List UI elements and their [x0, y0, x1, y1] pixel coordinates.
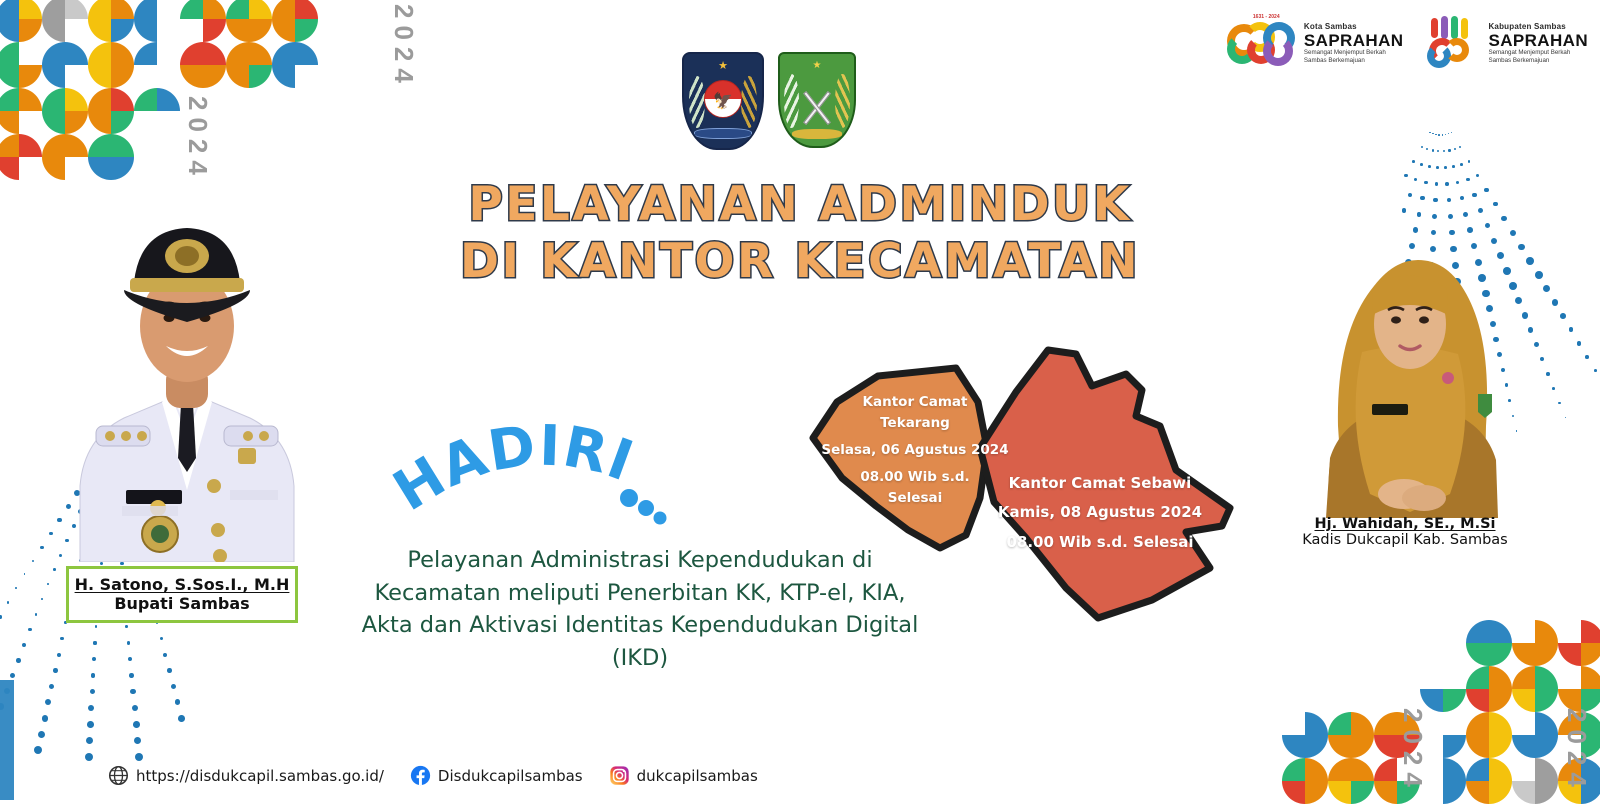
decor-tile — [1282, 758, 1328, 804]
tekarang-date: Selasa, 06 Agustus 2024 — [815, 440, 1015, 461]
hadiri-text: HADIRI — [383, 413, 642, 524]
decor-halftone-dot — [1565, 417, 1567, 419]
decor-tile — [1328, 666, 1374, 712]
emblem-cross-icon — [797, 88, 837, 128]
logo-saprahan-label: SAPRAHAN — [1488, 32, 1588, 50]
decor-tile-quarter — [1305, 758, 1328, 781]
decor-halftone-dot — [32, 560, 35, 563]
decor-tile-quarter — [1535, 689, 1558, 712]
anniversary-logos: 1631 - 2024 Kota Sambas SAPRAHAN Semanga… — [1225, 16, 1588, 72]
decor-tile-quarter — [1466, 781, 1489, 804]
kadis-name: Hj. Wahidah, SE., M.Si — [1290, 516, 1520, 532]
decor-halftone-dot — [1552, 299, 1558, 305]
emblem-star-icon: ★ — [718, 61, 728, 72]
decor-halftone-dot — [1546, 372, 1550, 376]
decor-tile — [1420, 620, 1466, 666]
decor-tile-quarter — [1466, 735, 1489, 758]
sebawi-office: Kantor Camat Sebawi — [970, 472, 1230, 495]
decor-halftone-dot — [1436, 166, 1439, 169]
decor-tile-quarter — [1535, 758, 1558, 781]
decor-tile-quarter — [65, 42, 88, 65]
decor-halftone-dot — [178, 715, 185, 722]
decor-tile — [1420, 666, 1466, 712]
decor-year-bottom-right-a: 2024 — [1561, 708, 1592, 794]
decor-tile-quarter — [203, 0, 226, 19]
decor-tile-quarter — [1466, 620, 1489, 643]
decor-halftone-dot — [92, 657, 96, 661]
decor-tile-quarter — [203, 65, 226, 88]
decor-halftone-dot — [1528, 327, 1534, 333]
poster-canvas: 2024 2024 2024 2024 ★ 🦅 ★ — [0, 0, 1600, 800]
decor-tile — [1466, 758, 1512, 804]
decor-halftone-dot — [16, 658, 21, 663]
decor-tile-quarter — [1374, 758, 1397, 781]
footer-instagram-label: dukcapilsambas — [637, 767, 758, 785]
decor-halftone-dot — [163, 653, 167, 657]
decor-tile-quarter — [1512, 781, 1535, 804]
decor-tile-quarter — [295, 42, 318, 65]
decor-tile-quarter — [42, 42, 65, 65]
decor-halftone-dot — [1560, 313, 1566, 319]
decor-tile-quarter — [1535, 620, 1558, 643]
decor-tile — [1282, 712, 1328, 758]
decor-tile-quarter — [42, 111, 65, 134]
footer-website[interactable]: https://disdukcapil.sambas.go.id/ — [108, 765, 384, 786]
decor-halftone-dot — [22, 643, 26, 647]
garuda-icon: 🦅 — [713, 91, 733, 111]
decor-tile-quarter — [1328, 781, 1351, 804]
decor-tile-quarter — [42, 19, 65, 42]
kecamatan-map: Kantor Camat Tekarang Selasa, 06 Agustus… — [780, 330, 1260, 625]
decor-halftone-dot — [1534, 342, 1539, 347]
decor-tile-quarter — [226, 42, 249, 65]
tekarang-office-line2: Tekarang — [815, 413, 1015, 434]
decor-tile-quarter — [180, 0, 203, 19]
decor-tile-quarter — [1535, 643, 1558, 666]
decor-tile-quarter — [1489, 758, 1512, 781]
decor-halftone-dot — [1432, 133, 1434, 135]
decor-halftone-dot — [41, 598, 43, 600]
decor-halftone-dot — [91, 673, 96, 678]
decor-halftone-dot — [53, 568, 56, 571]
decor-halftone-dot — [127, 641, 130, 644]
decor-tile-quarter — [180, 65, 203, 88]
decor-tile-quarter — [1489, 689, 1512, 712]
decor-tile-quarter — [1512, 735, 1535, 758]
decor-tile — [88, 42, 134, 88]
decor-tile-quarter — [226, 65, 249, 88]
decor-tile-quarter — [249, 0, 272, 19]
decor-halftone-dot — [38, 731, 45, 738]
decor-halftone-dot — [1421, 146, 1423, 148]
decor-halftone-dot — [0, 615, 2, 618]
decor-halftone-dot — [35, 613, 38, 616]
decor-halftone-dot — [1448, 133, 1450, 135]
decor-tile-quarter — [1466, 712, 1489, 735]
decor-tile — [0, 88, 42, 134]
sebawi-date: Kamis, 08 Agustus 2024 — [970, 501, 1230, 524]
decor-halftone-dot — [34, 746, 42, 754]
decor-tile-quarter — [1282, 758, 1305, 781]
decor-halftone-dot — [160, 637, 163, 640]
instagram-icon — [609, 765, 630, 786]
decor-halftone-dot — [1452, 165, 1455, 168]
decor-tile-quarter — [42, 65, 65, 88]
decor-tile-quarter — [88, 65, 111, 88]
decor-tile-quarter — [111, 19, 134, 42]
decor-halftone-dot — [1577, 341, 1581, 345]
decor-tile-quarter — [1581, 620, 1600, 643]
decor-tile — [226, 0, 272, 42]
decor-halftone-dot — [1585, 355, 1589, 359]
decor-tile — [88, 134, 134, 180]
decor-tile-quarter — [1328, 758, 1351, 781]
hadiri-ellipsis-dots — [620, 489, 667, 525]
decor-tile — [1466, 712, 1512, 758]
decor-tile-quarter — [1512, 666, 1535, 689]
decor-tile-quarter — [0, 42, 19, 65]
decor-tile-quarter — [272, 0, 295, 19]
decor-tile-quarter — [1489, 712, 1512, 735]
portrait-kadis — [1300, 212, 1520, 518]
decor-tile — [226, 88, 272, 134]
decor-tile-quarter — [1581, 643, 1600, 666]
decor-halftone-dot — [1428, 165, 1431, 168]
decor-tile-quarter — [88, 111, 111, 134]
decor-halftone-dot — [1522, 312, 1528, 318]
decor-tile — [180, 0, 226, 42]
decor-tile — [272, 42, 318, 88]
decor-halftone-dot — [125, 625, 128, 628]
decor-halftone-dot — [132, 705, 138, 711]
decor-tile-quarter — [272, 19, 295, 42]
decor-tile-quarter — [0, 19, 19, 42]
decor-tile — [1282, 666, 1328, 712]
decor-tile-quarter — [1328, 712, 1351, 735]
decor-tiles-bottom-right — [1282, 620, 1600, 804]
nameplate-kadis: Hj. Wahidah, SE., M.Si Kadis Dukcapil Ka… — [1290, 516, 1520, 548]
decor-tile-quarter — [1535, 781, 1558, 804]
emblem-wreath-right — [741, 76, 757, 128]
decor-tile-quarter — [65, 111, 88, 134]
decor-halftone-dot — [1451, 132, 1453, 134]
decor-tile-quarter — [111, 0, 134, 19]
decor-halftone-dot — [130, 689, 135, 694]
decor-tile-quarter — [249, 42, 272, 65]
decor-tile-quarter — [180, 42, 203, 65]
decor-halftone-dot — [47, 583, 49, 585]
decor-tile-quarter — [19, 65, 42, 88]
decor-halftone-dot — [1448, 149, 1450, 151]
decor-halftone-dot — [93, 641, 96, 644]
call-to-action-hadiri: HADIRI — [398, 424, 668, 524]
emblem-ribbon — [792, 129, 842, 139]
decor-tile — [1328, 620, 1374, 666]
decor-halftone-dot — [53, 668, 58, 673]
decor-halftone-dot — [15, 587, 17, 589]
decor-halftone-dot — [134, 737, 141, 744]
decor-tile-quarter — [88, 134, 111, 157]
decor-tile-quarter — [1374, 781, 1397, 804]
decor-tile-quarter — [226, 0, 249, 19]
logo-saprahan-label: SAPRAHAN — [1304, 32, 1404, 50]
decor-blue-bar — [0, 680, 14, 800]
decor-tile — [0, 0, 42, 42]
decor-tile — [0, 42, 42, 88]
decor-tile-quarter — [1351, 781, 1374, 804]
decor-tile-quarter — [42, 88, 65, 111]
decor-halftone-dot — [100, 562, 103, 565]
decor-tile — [42, 88, 88, 134]
decor-tile — [1328, 758, 1374, 804]
decor-tile-quarter — [42, 134, 65, 157]
decor-tile — [1512, 758, 1558, 804]
decor-tile — [42, 42, 88, 88]
footer-instagram[interactable]: dukcapilsambas — [609, 765, 758, 786]
decor-halftone-dot — [86, 737, 93, 744]
decor-tile — [1282, 620, 1328, 666]
decor-halftone-dot — [1438, 134, 1440, 136]
decor-tile-quarter — [1328, 735, 1351, 758]
decor-tile — [1512, 712, 1558, 758]
logo-year-range: 1631 - 2024 — [1253, 14, 1280, 20]
decor-tile-quarter — [1489, 735, 1512, 758]
tekarang-office-line1: Kantor Camat — [815, 392, 1015, 413]
decor-year-bottom-right-b: 2024 — [1397, 708, 1428, 794]
decor-tile-quarter — [1351, 712, 1374, 735]
decor-tile-quarter — [1512, 689, 1535, 712]
decor-tile-quarter — [1489, 643, 1512, 666]
decor-tile-quarter — [65, 134, 88, 157]
decor-halftone-dot — [42, 715, 49, 722]
decor-tile-quarter — [1443, 689, 1466, 712]
decor-tile-quarter — [0, 111, 19, 134]
decor-tile-quarter — [111, 42, 134, 65]
bupati-name: H. Satono, S.Sos.I., M.H — [73, 575, 291, 594]
decor-tile-quarter — [1466, 758, 1489, 781]
decor-halftone-dot — [1558, 402, 1560, 404]
decor-year-top-right-a: 2024 — [388, 4, 419, 90]
decor-tile-quarter — [111, 111, 134, 134]
decor-tile-quarter — [1512, 643, 1535, 666]
sebawi-time: 08.00 Wib s.d. Selesai — [970, 531, 1230, 554]
decor-tile — [1374, 666, 1420, 712]
decor-tile-quarter — [111, 134, 134, 157]
decor-halftone-dot — [1443, 150, 1445, 152]
emblem-wreath-left — [689, 76, 705, 128]
decor-tile — [226, 42, 272, 88]
decor-tile-quarter — [1535, 735, 1558, 758]
decor-tile-quarter — [0, 88, 19, 111]
decor-tile — [1512, 666, 1558, 712]
decor-halftone-dot — [133, 721, 140, 728]
emblem-ribbon — [694, 128, 752, 139]
decor-tile-quarter — [1466, 689, 1489, 712]
decor-tiles-top-left — [0, 0, 318, 180]
decor-halftone-dot — [24, 573, 26, 575]
decor-tile — [272, 134, 318, 180]
decor-halftone-dot — [85, 753, 93, 761]
decor-halftone-dot — [167, 668, 172, 673]
decor-halftone-dot — [57, 653, 61, 657]
decor-tile — [88, 88, 134, 134]
decor-halftone-dot — [120, 562, 123, 565]
decor-tile-quarter — [1489, 666, 1512, 689]
decor-halftone-dot — [135, 753, 143, 761]
decor-tile — [42, 0, 88, 42]
decor-halftone-dot — [1459, 146, 1461, 148]
decor-tile-quarter — [1535, 712, 1558, 735]
logo-kabupaten-sambas-25: Kabupaten Sambas SAPRAHAN Semangat Menje… — [1423, 16, 1588, 72]
decor-halftone-dot — [1412, 160, 1415, 163]
decor-tile-quarter — [0, 65, 19, 88]
portrait-bupati — [62, 190, 312, 562]
decor-tile — [272, 0, 318, 42]
decor-tile-quarter — [88, 42, 111, 65]
decor-tile-quarter — [111, 65, 134, 88]
decor-tile — [88, 0, 134, 42]
decor-halftone-dot — [171, 684, 176, 689]
decor-tile — [272, 88, 318, 134]
decor-tile-quarter — [1351, 758, 1374, 781]
decor-tile-quarter — [19, 0, 42, 19]
decor-tile — [134, 42, 180, 88]
decor-halftone-dot — [1468, 160, 1471, 163]
decor-halftone-dot — [95, 625, 98, 628]
decor-tile-quarter — [111, 88, 134, 111]
map-label-sebawi: Kantor Camat Sebawi Kamis, 08 Agustus 20… — [970, 472, 1230, 554]
decor-tile-quarter — [295, 19, 318, 42]
decor-halftone-dot — [1569, 327, 1574, 332]
decor-tile-quarter — [1443, 735, 1466, 758]
decor-halftone-dot — [1435, 134, 1437, 136]
facebook-icon — [410, 765, 431, 786]
decor-halftone-dot — [45, 699, 51, 705]
decor-tile-quarter — [1466, 666, 1489, 689]
logo-kota-sambas-393: 1631 - 2024 Kota Sambas SAPRAHAN Semanga… — [1225, 16, 1404, 72]
decor-tile-quarter — [157, 88, 180, 111]
kadis-title: Kadis Dukcapil Kab. Sambas — [1290, 532, 1520, 548]
decor-tile-quarter — [1489, 781, 1512, 804]
decor-tile-quarter — [42, 0, 65, 19]
decor-halftone-dot — [1444, 166, 1447, 169]
decor-tile — [180, 42, 226, 88]
decor-halftone-dot — [175, 699, 181, 705]
decor-year-top-left-a: 2024 — [182, 96, 213, 182]
logo-393-mark-icon: 1631 - 2024 — [1225, 16, 1297, 72]
sambas-emblem-icon: ★ — [778, 52, 856, 148]
logo-25-mark-icon — [1423, 16, 1481, 72]
footer-facebook-label: Disdukcapilsambas — [438, 767, 583, 785]
footer-facebook[interactable]: Disdukcapilsambas — [410, 765, 583, 786]
decor-halftone-dot — [49, 684, 54, 689]
bupati-title: Bupati Sambas — [73, 594, 291, 613]
decor-halftone-dot — [90, 689, 95, 694]
decor-tile-quarter — [19, 134, 42, 157]
decor-tile-quarter — [88, 19, 111, 42]
decor-halftone-dot — [1442, 134, 1444, 136]
footer-social-bar: https://disdukcapil.sambas.go.id/ Disduk… — [108, 765, 758, 786]
decor-tile-quarter — [19, 19, 42, 42]
decor-tile-quarter — [1374, 712, 1397, 735]
decor-halftone-dot — [1540, 357, 1544, 361]
footer-website-label: https://disdukcapil.sambas.go.id/ — [136, 767, 384, 785]
decor-tile-quarter — [1443, 781, 1466, 804]
decor-tile — [1328, 712, 1374, 758]
decor-tile-quarter — [0, 0, 19, 19]
decor-tile-quarter — [226, 19, 249, 42]
decor-tile-quarter — [1489, 620, 1512, 643]
decor-tile-quarter — [272, 42, 295, 65]
nameplate-bupati: H. Satono, S.Sos.I., M.H Bupati Sambas — [66, 566, 298, 623]
decor-tile-quarter — [1558, 643, 1581, 666]
decor-tile-quarter — [1305, 781, 1328, 804]
logo-tagline: Semangat Menjemput Berkah Sambas Berkema… — [1304, 49, 1400, 65]
decor-tile-quarter — [88, 0, 111, 19]
emblem-star-icon: ★ — [813, 60, 822, 71]
decor-tile-quarter — [1374, 735, 1397, 758]
decor-tile-quarter — [88, 88, 111, 111]
decor-tile — [1466, 666, 1512, 712]
decor-tile-quarter — [1351, 735, 1374, 758]
decor-tile-quarter — [134, 88, 157, 111]
decor-tile — [134, 0, 180, 42]
emblem-wreath-right — [835, 74, 850, 128]
decor-halftone-dot — [88, 705, 94, 711]
decor-tile — [0, 134, 42, 180]
decor-tile-quarter — [203, 19, 226, 42]
decor-tile-quarter — [1535, 666, 1558, 689]
decor-halftone-dot — [1594, 369, 1597, 372]
decor-tile-quarter — [65, 0, 88, 19]
decor-tile-quarter — [19, 88, 42, 111]
decor-tile — [1512, 620, 1558, 666]
decor-tile — [1466, 620, 1512, 666]
decor-tile-quarter — [203, 42, 226, 65]
decor-tile-quarter — [134, 0, 157, 19]
decor-halftone-dot — [1426, 148, 1428, 150]
decor-tile-quarter — [134, 19, 157, 42]
kemendagri-emblem-icon: ★ 🦅 — [682, 52, 764, 150]
decor-tile — [42, 134, 88, 180]
decor-tile — [1558, 620, 1600, 666]
decor-halftone-dot — [1460, 163, 1463, 166]
decor-halftone-dot — [1445, 134, 1447, 136]
decor-halftone-dot — [1454, 148, 1456, 150]
decor-tile-quarter — [1581, 666, 1600, 689]
decor-tile-quarter — [0, 134, 19, 157]
decor-halftone-dot — [1429, 132, 1431, 134]
decor-halftone-dot — [28, 628, 31, 631]
decor-halftone-dot — [49, 532, 53, 536]
decor-halftone-dot — [7, 601, 10, 604]
decor-halftone-dot — [1437, 150, 1439, 152]
decor-tile-quarter — [1282, 735, 1305, 758]
decor-tile-quarter — [295, 0, 318, 19]
decor-tile-quarter — [1466, 643, 1489, 666]
decor-halftone-dot — [1432, 149, 1434, 151]
decor-tile-quarter — [1305, 712, 1328, 735]
decor-tile-quarter — [134, 42, 157, 65]
decor-halftone-dot — [40, 546, 43, 549]
decor-tile — [1558, 666, 1600, 712]
decor-halftone-dot — [128, 657, 132, 661]
decor-halftone-dot — [129, 673, 134, 678]
decor-tile-quarter — [272, 65, 295, 88]
decor-tile — [134, 88, 180, 134]
decor-halftone-dot — [60, 637, 63, 640]
logo-tagline: Semangat Menjemput Berkah Sambas Berkema… — [1488, 49, 1584, 65]
